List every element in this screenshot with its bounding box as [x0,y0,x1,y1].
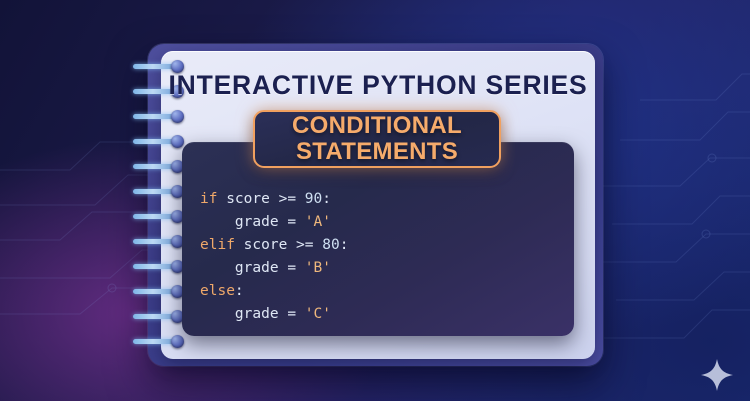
code-token: : [235,283,244,299]
badge-line-1: CONDITIONAL [292,113,462,139]
code-token: >= [296,237,322,253]
code-line: grade = 'A' [200,211,348,234]
code-token: 'C' [305,306,331,322]
spiral-ring [133,210,189,223]
spiral-ring [133,110,189,123]
code-token: : [340,237,349,253]
spiral-ring [133,285,189,298]
code-token: 'B' [305,260,331,276]
slide-canvas: INTERACTIVE PYTHON SERIES CONDITIONAL ST… [0,0,750,401]
code-token: = [287,306,304,322]
code-token: score [226,191,278,207]
spiral-ring-knob [171,110,184,123]
code-token: 'A' [305,214,331,230]
spiral-ring [133,335,189,348]
code-token: grade [200,260,287,276]
code-token: = [287,214,304,230]
spiral-ring [133,310,189,323]
code-block: if score >= 90: grade = 'A'elif score >=… [200,188,348,326]
code-line: else: [200,280,348,303]
spiral-ring-knob [171,135,184,148]
spiral-ring [133,135,189,148]
code-line: grade = 'B' [200,257,348,280]
topic-badge: CONDITIONAL STATEMENTS [253,110,501,168]
page-title: INTERACTIVE PYTHON SERIES [161,70,595,101]
code-token: 90 [305,191,322,207]
spiral-ring [133,185,189,198]
code-token: else [200,283,235,299]
spiral-ring [133,260,189,273]
code-token: : [322,191,331,207]
code-token: = [287,260,304,276]
sparkle-icon [700,358,734,392]
code-line: grade = 'C' [200,303,348,326]
code-token: if [200,191,226,207]
code-token: >= [279,191,305,207]
spiral-ring [133,160,189,173]
code-token: 80 [322,237,339,253]
code-line: elif score >= 80: [200,234,348,257]
code-panel: if score >= 90: grade = 'A'elif score >=… [182,142,574,336]
badge-line-2: STATEMENTS [296,139,458,165]
code-token: elif [200,237,244,253]
code-token: grade [200,214,287,230]
spiral-ring-knob [171,335,184,348]
code-line: if score >= 90: [200,188,348,211]
code-token: score [244,237,296,253]
spiral-ring [133,235,189,248]
code-token: grade [200,306,287,322]
